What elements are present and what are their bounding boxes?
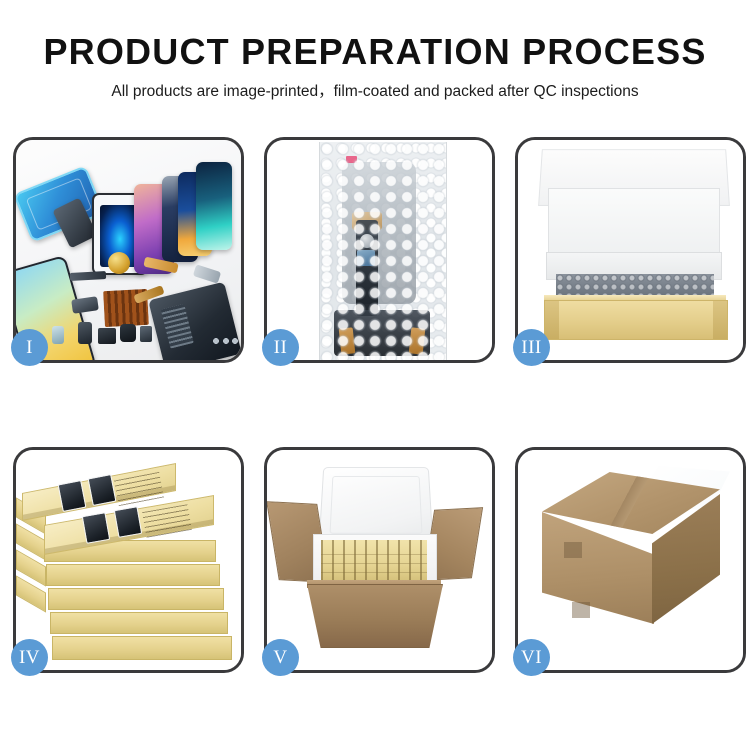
box-print-screen-a2 <box>88 474 117 506</box>
step-image-4: Mobile Phone Spare Parts Mobile Phone Sp… <box>16 450 241 670</box>
lcd-tab-left <box>339 327 356 354</box>
step-image-1 <box>16 140 241 360</box>
stack-box-8 <box>50 612 228 634</box>
foam-lid <box>319 467 434 544</box>
box-stack: Mobile Phone Spare Parts Mobile Phone Sp… <box>16 450 241 670</box>
step-panel-3[interactable]: III <box>515 137 746 363</box>
screws-group <box>212 336 238 346</box>
box-print-screen-a1 <box>58 480 87 512</box>
stack-box-9 <box>52 636 232 660</box>
spare-part-e <box>140 326 152 342</box>
step-panel-4[interactable]: Mobile Phone Spare Parts Mobile Phone Sp… <box>13 447 244 673</box>
step-badge-3: III <box>513 329 550 366</box>
inner-box-body <box>544 300 728 340</box>
carton-hand-hole-bottom <box>572 602 590 618</box>
step-badge-2: II <box>262 329 299 366</box>
gold-coil-part <box>108 252 130 274</box>
step-panel-5[interactable]: V <box>264 447 495 673</box>
box-print-screen-b2 <box>114 506 142 538</box>
teal-wave-phone <box>196 162 232 250</box>
lcd-panel <box>342 162 416 304</box>
step-image-2 <box>267 140 492 360</box>
step-badge-4: IV <box>11 639 48 676</box>
page-header: PRODUCT PREPARATION PROCESS All products… <box>0 0 750 104</box>
step-badge-1: I <box>11 329 48 366</box>
stack-box-6 <box>46 564 220 586</box>
spare-part-a <box>71 296 99 313</box>
carton-body <box>307 584 443 648</box>
step-image-6 <box>518 450 743 670</box>
packed-boxes-texture <box>321 548 427 582</box>
lcd-tab-right <box>409 327 426 354</box>
spare-part-c <box>98 328 116 344</box>
step-panel-6[interactable]: VI <box>515 447 746 673</box>
lcd-camera-hole <box>360 234 374 248</box>
lcd-qc-sticker <box>346 156 357 163</box>
lcd-ic-chip <box>357 250 375 266</box>
carton-hand-hole-top <box>564 542 582 558</box>
step-image-3 <box>518 140 743 360</box>
spare-part-b <box>78 322 92 344</box>
step-panel-1[interactable]: I <box>13 137 244 363</box>
page-subtitle: All products are image-printed，film-coat… <box>0 80 750 104</box>
step-image-5 <box>267 450 492 670</box>
step-panel-2[interactable]: II <box>264 137 495 363</box>
spare-part-f <box>52 326 64 344</box>
bubble-wrap-bag <box>319 142 447 360</box>
connector-strip <box>70 271 106 281</box>
box-print-screen-b1 <box>82 512 110 544</box>
step-badge-6: VI <box>513 639 550 676</box>
spare-part-g <box>193 264 221 283</box>
spare-part-d <box>120 324 136 342</box>
page-title: PRODUCT PREPARATION PROCESS <box>0 30 750 74</box>
step-badge-5: V <box>262 639 299 676</box>
process-steps-grid: I II I <box>13 137 737 673</box>
stack-box-7 <box>48 588 224 610</box>
